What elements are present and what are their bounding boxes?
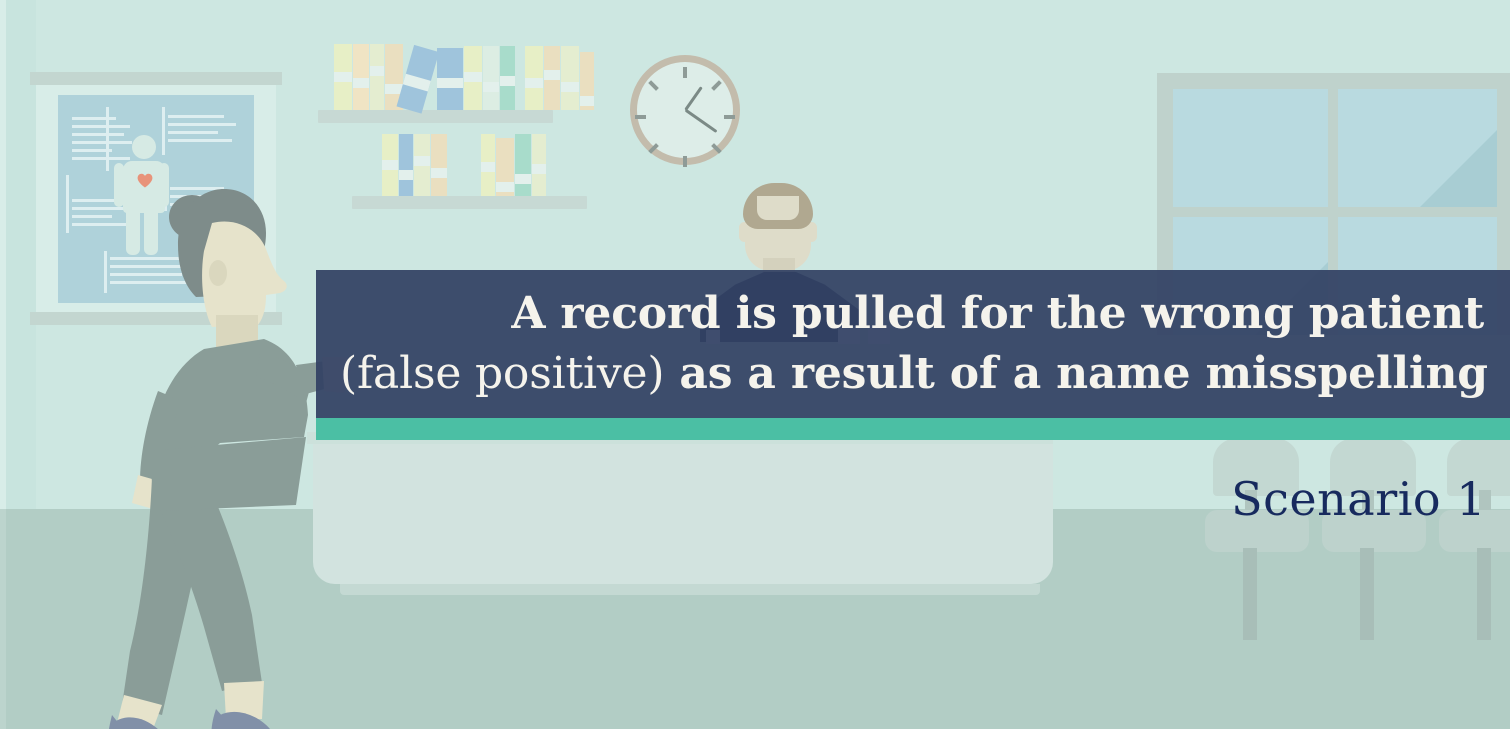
clock-hour-hand xyxy=(684,86,703,111)
book-row-upper xyxy=(334,44,554,110)
book-band xyxy=(464,72,482,82)
receptionist-hair-part xyxy=(757,196,799,220)
book-row-lower xyxy=(382,134,582,196)
book-band xyxy=(382,160,398,170)
book-spine xyxy=(399,134,413,196)
desk-base-shadow xyxy=(340,584,1040,595)
book-band xyxy=(580,96,594,106)
book-spine xyxy=(414,134,430,196)
book-band xyxy=(532,164,546,174)
window-pane-top-left xyxy=(1173,89,1328,207)
caption-line-2-light: (false positive) xyxy=(340,348,664,399)
book-spine xyxy=(515,134,531,196)
woman-ear xyxy=(209,260,227,286)
book-spine xyxy=(544,46,560,110)
book-spine xyxy=(500,46,515,110)
reception-desk-body xyxy=(313,444,1053,584)
book-band xyxy=(431,168,447,178)
book-band xyxy=(515,174,531,184)
book-spine xyxy=(437,48,463,110)
poster-rail-top xyxy=(30,72,282,85)
book-band xyxy=(370,66,384,76)
caption-line-2: (false positive) as a result of a name m… xyxy=(340,344,1484,404)
caption-banner: A record is pulled for the wrong patient… xyxy=(316,270,1510,418)
poster-figure-head xyxy=(132,135,156,159)
caption-line-1: A record is pulled for the wrong patient xyxy=(340,284,1484,344)
book-band xyxy=(437,78,463,88)
book-band xyxy=(481,162,495,172)
woman-shoe-front xyxy=(216,712,275,729)
book-band xyxy=(483,82,499,92)
book-band xyxy=(334,72,352,82)
book-spine xyxy=(481,134,495,196)
book-spine xyxy=(353,44,369,110)
book-band xyxy=(496,182,514,192)
illustration-canvas: A record is pulled for the wrong patient… xyxy=(0,0,1510,729)
caption-line-2-bold: as a result of a name misspelling xyxy=(664,348,1488,399)
book-spine xyxy=(431,134,447,196)
wall-edge-strip xyxy=(0,0,6,509)
window-pane-top-right xyxy=(1338,89,1497,207)
book-band xyxy=(544,70,560,80)
book-spine xyxy=(382,134,398,196)
book-spine xyxy=(483,46,499,110)
book-band xyxy=(561,82,579,92)
book-spine xyxy=(496,138,514,196)
book-spine xyxy=(525,46,543,110)
book-spine xyxy=(464,46,482,110)
scenario-label: Scenario 1 xyxy=(1000,470,1486,528)
book-band xyxy=(414,156,430,166)
book-band xyxy=(353,78,369,88)
shelf-board-lower xyxy=(352,196,587,209)
caption-accent-bar xyxy=(316,418,1510,440)
clock-minute-hand xyxy=(684,109,717,133)
caption-text: A record is pulled for the wrong patient… xyxy=(340,284,1484,404)
book-spine xyxy=(532,134,546,196)
book-spine xyxy=(580,52,594,110)
book-band xyxy=(525,78,543,88)
floor-edge-strip xyxy=(0,509,6,729)
book-band xyxy=(399,170,413,180)
book-spine xyxy=(334,44,352,110)
book-band xyxy=(500,76,515,86)
book-spine xyxy=(370,44,384,110)
shelf-board-upper xyxy=(318,110,553,123)
book-spine xyxy=(561,46,579,110)
wall-clock xyxy=(630,55,740,165)
